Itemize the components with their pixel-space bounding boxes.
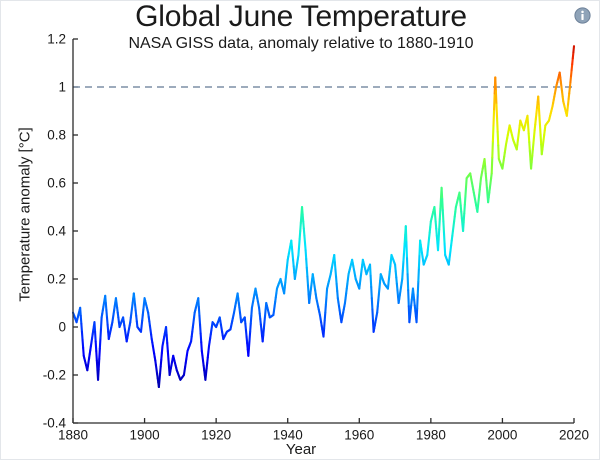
- svg-text:0.8: 0.8: [47, 128, 66, 143]
- axis-ticks: [73, 39, 574, 423]
- svg-text:0.4: 0.4: [47, 224, 66, 239]
- x-axis-title: Year: [1, 441, 600, 458]
- tick-labels: -0.4-0.200.20.40.60.811.2188019001920194…: [43, 32, 589, 443]
- svg-text:0: 0: [58, 320, 66, 335]
- temperature-series: [73, 46, 574, 387]
- svg-text:0.6: 0.6: [47, 176, 66, 191]
- svg-text:1.2: 1.2: [47, 32, 66, 47]
- chart-figure: Global June Temperature NASA GISS data, …: [0, 0, 600, 460]
- svg-text:-0.2: -0.2: [43, 368, 66, 383]
- y-axis-title: Temperature anomaly [°C]: [17, 95, 34, 335]
- svg-text:1: 1: [58, 80, 66, 95]
- plot-area: -0.4-0.200.20.40.60.811.2188019001920194…: [1, 1, 600, 461]
- svg-text:0.2: 0.2: [47, 272, 66, 287]
